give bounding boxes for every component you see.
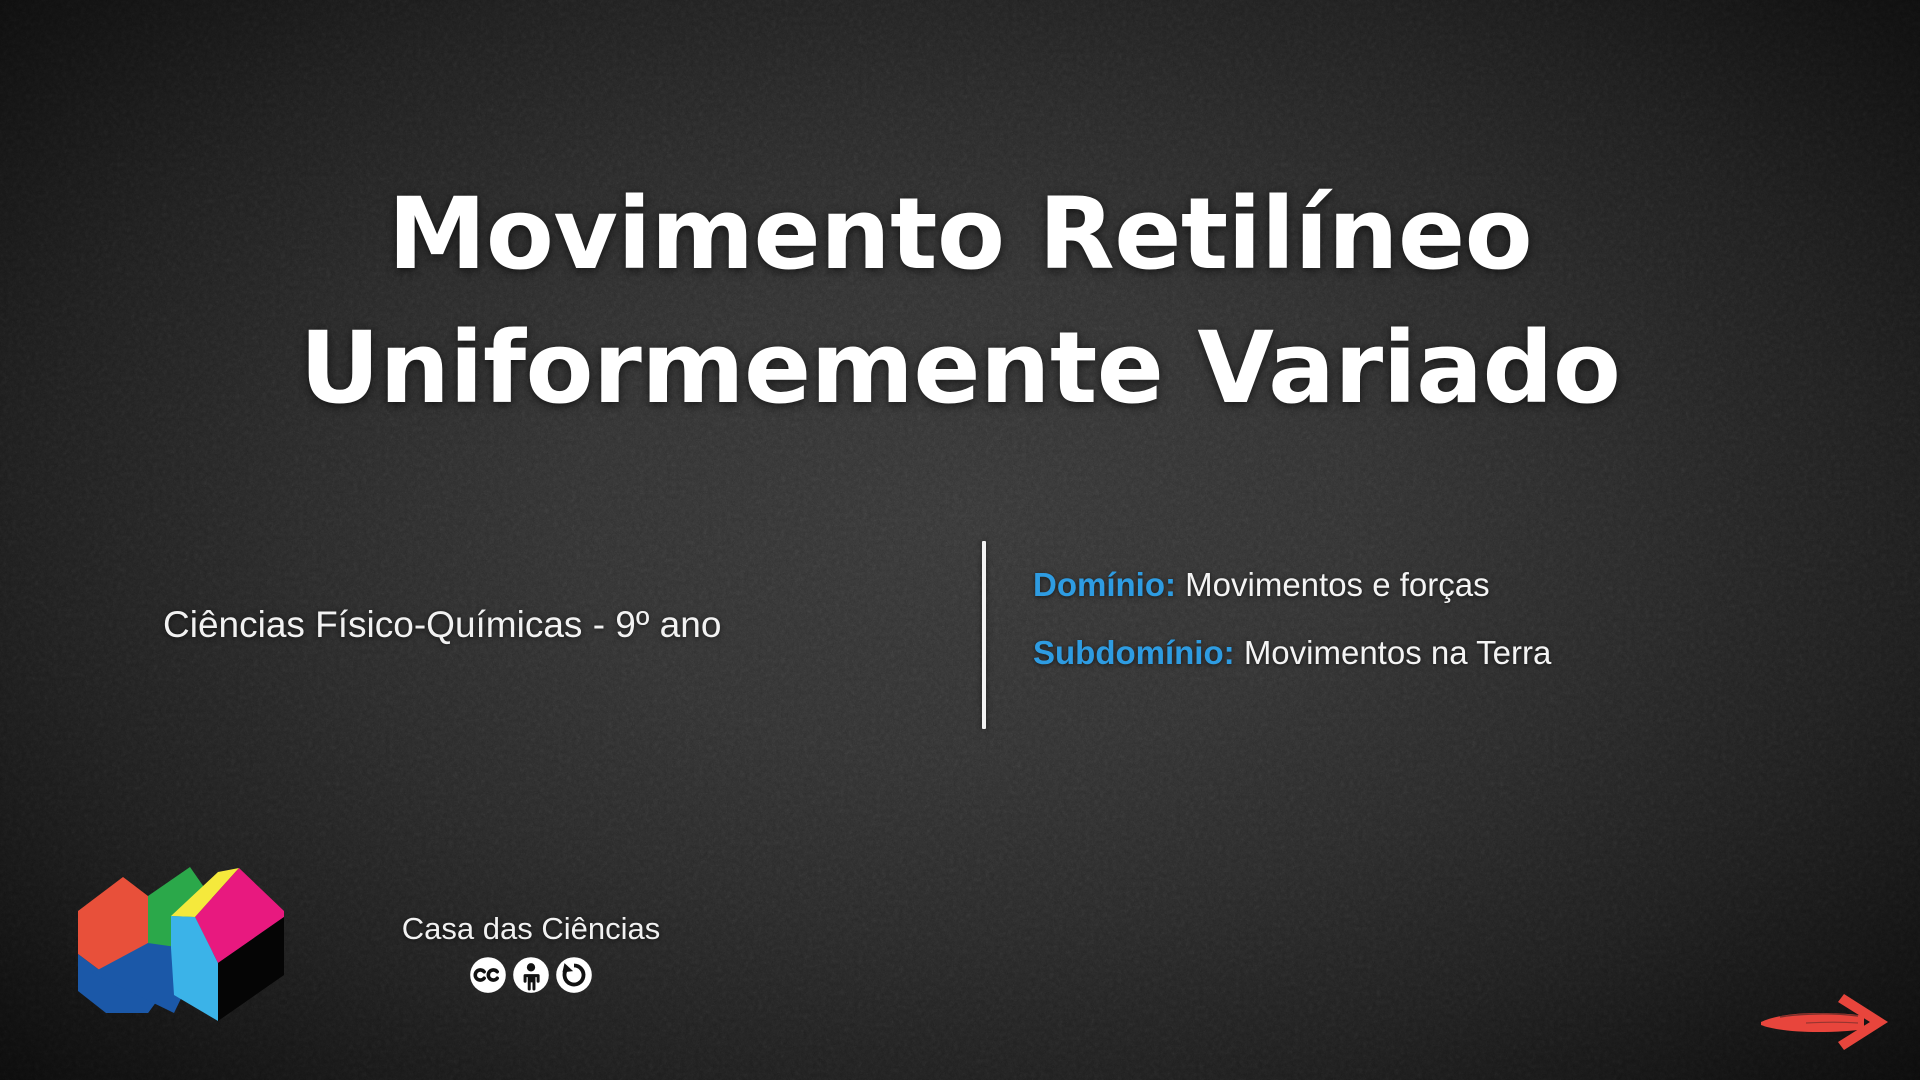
next-slide-arrow[interactable]	[1758, 992, 1890, 1054]
casa-das-ciencias-logo	[78, 855, 284, 1025]
slide-canvas: Movimento Retilíneo Uniformemente Variad…	[0, 0, 1920, 1080]
vertical-divider-rule	[982, 541, 986, 729]
credit-name: Casa das Ciências	[394, 910, 668, 948]
course-subtitle: Ciências Físico-Químicas - 9º ano	[163, 601, 721, 649]
title-line-1: Movimento Retilíneo	[120, 168, 1800, 302]
domain-line: Domínio: Movimentos e forças	[1033, 565, 1551, 605]
cc-by-icon	[512, 956, 550, 994]
subdomain-value: Movimentos na Terra	[1244, 634, 1552, 671]
slide-title: Movimento Retilíneo Uniformemente Variad…	[0, 168, 1920, 436]
curriculum-meta-lines: Domínio: Movimentos e forças Subdomínio:…	[1033, 541, 1551, 673]
domain-value: Movimentos e forças	[1185, 566, 1489, 603]
curriculum-meta-block: Domínio: Movimentos e forças Subdomínio:…	[982, 541, 1551, 729]
title-line-2: Uniformemente Variado	[120, 302, 1800, 436]
domain-label: Domínio:	[1033, 566, 1176, 603]
slide-background	[0, 0, 1920, 1080]
license-badges	[394, 956, 668, 994]
cc-sa-icon	[555, 956, 593, 994]
subdomain-label: Subdomínio:	[1033, 634, 1235, 671]
cc-icon	[469, 956, 507, 994]
subdomain-line: Subdomínio: Movimentos na Terra	[1033, 633, 1551, 673]
credit-block: Casa das Ciências	[394, 910, 668, 994]
